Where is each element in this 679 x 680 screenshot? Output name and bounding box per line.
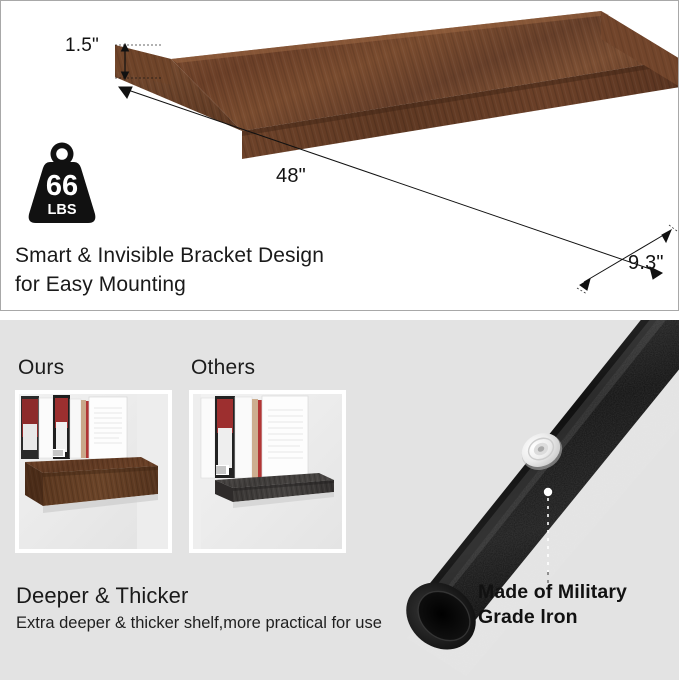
callout-dot: [544, 488, 552, 496]
rod-caption-line-2: Grade lron: [478, 605, 668, 630]
books-stack-ours: [21, 395, 127, 459]
comparison-headings: Ours Others: [15, 356, 360, 390]
shelf-front-edge-band: [242, 59, 679, 159]
top-panel-headline: Smart & Invisible Bracket Design for Eas…: [15, 241, 435, 299]
comparison-block: Ours Others: [15, 356, 360, 556]
label-others: Others: [191, 356, 255, 380]
others-shelf-photo: [189, 390, 346, 553]
dimension-label-length: 48": [276, 165, 306, 188]
books-stack-others: [201, 396, 308, 478]
rod-caption-line-1: Made of Military: [478, 580, 668, 605]
top-panel: 1.5" 48" 9.3" 66 LBS Smart & Invisible B…: [0, 0, 679, 311]
weight-unit: LBS: [48, 202, 77, 218]
shelf-top-face: [171, 11, 679, 131]
dimension-label-thickness: 1.5": [65, 35, 99, 57]
white-screw-knob: [515, 426, 568, 476]
label-ours: Ours: [18, 356, 64, 380]
comparison-title: Deeper & Thicker: [16, 582, 466, 610]
weight-capacity-badge: 66 LBS: [26, 140, 98, 226]
shelf-left-end-cap: [115, 45, 171, 85]
ours-shelf-photo: [15, 390, 172, 553]
comparison-photo-row: [15, 390, 360, 556]
headline-line-2: for Easy Mounting: [15, 270, 435, 299]
weight-value: 66: [46, 170, 78, 202]
shelf-front-face: [115, 45, 242, 131]
iron-rod-caption: Made of Military Grade lron: [478, 580, 668, 630]
dimension-label-depth: 9.3": [628, 252, 664, 275]
comparison-caption: Deeper & Thicker Extra deeper & thicker …: [16, 582, 466, 634]
comparison-subtitle: Extra deeper & thicker shelf,more practi…: [16, 612, 466, 634]
product-infographic: 1.5" 48" 9.3" 66 LBS Smart & Invisible B…: [0, 0, 679, 680]
dimension-thickness-arrow: [115, 44, 161, 79]
headline-line-1: Smart & Invisible Bracket Design: [15, 241, 435, 270]
shelf-right-end-cap: [601, 11, 679, 87]
